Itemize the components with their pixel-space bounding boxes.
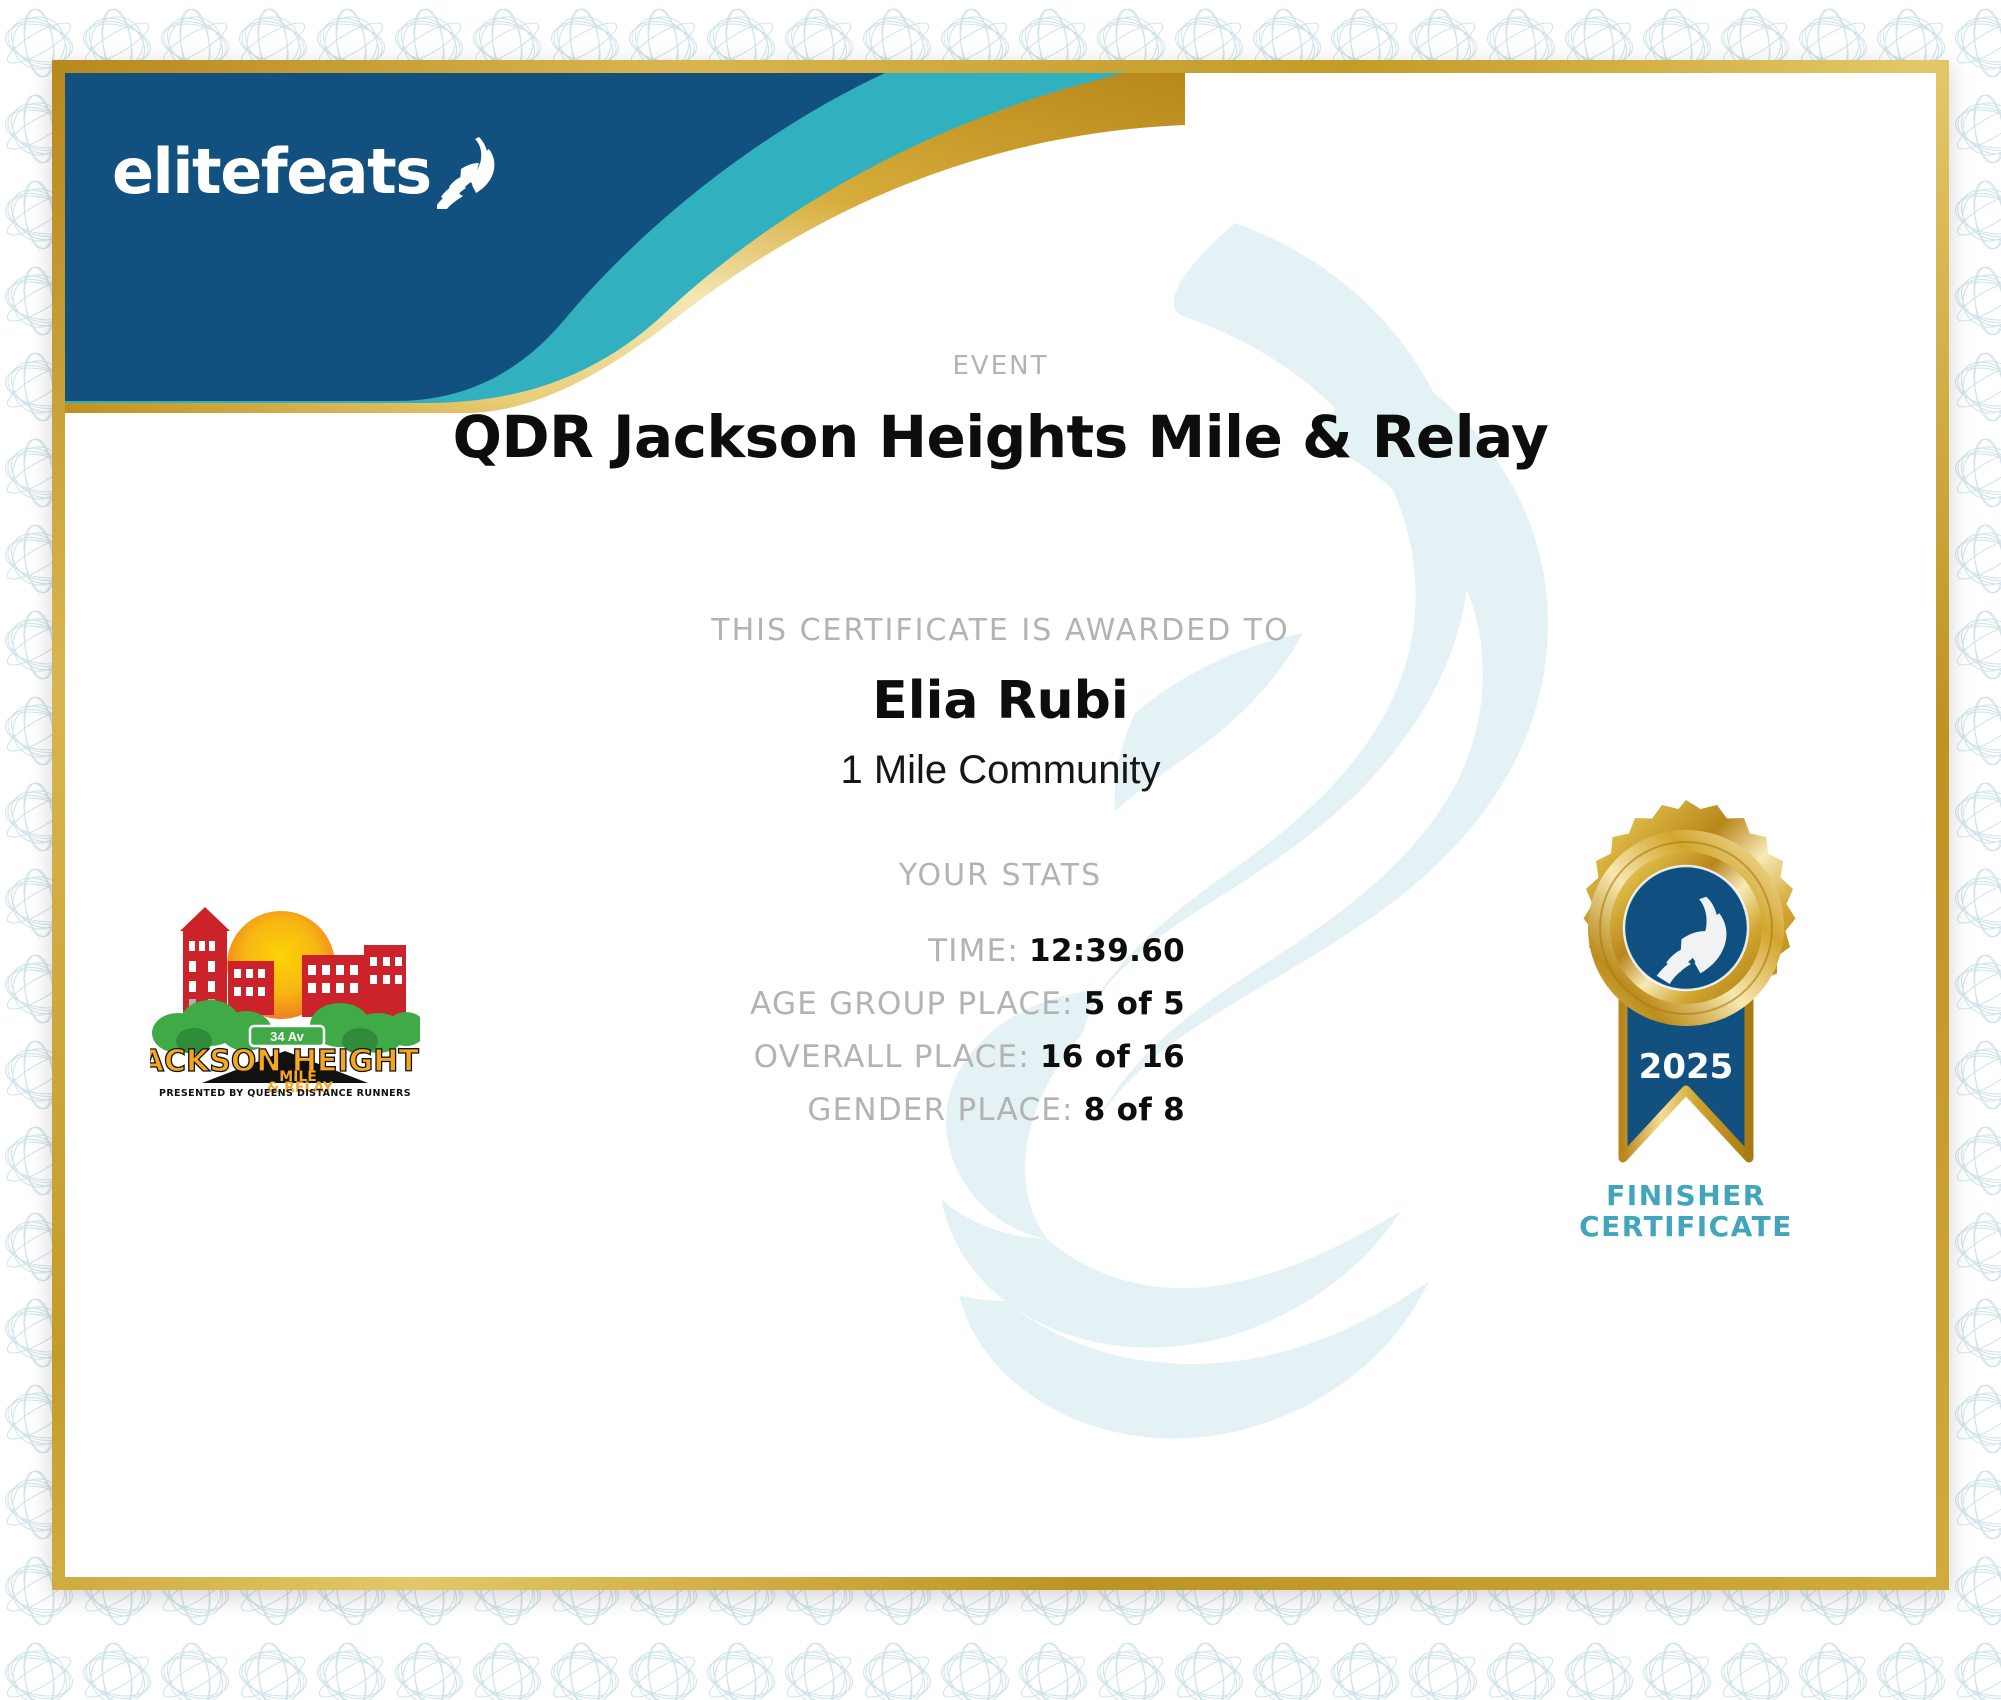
stat-key: TIME: (928, 933, 1019, 969)
badge-caption-line1: FINISHER (1541, 1180, 1831, 1211)
stat-value: 5 of 5 (1084, 986, 1185, 1022)
logo-presented-by: PRESENTED BY QUEENS DISTANCE RUNNERS (159, 1088, 411, 1098)
winged-foot-icon (435, 135, 499, 209)
gold-frame: elitefeats EVENT QDR Jackson Heights Mil… (52, 60, 1949, 1590)
finisher-badge: 2025 FINISHER CERTIFICATE (1541, 778, 1831, 1243)
brand-wordmark: elitefeats (112, 141, 431, 203)
jackson-heights-event-logo: 34 Av JACKSON HEIGHTS MILE & RELAY PRESE… (150, 883, 420, 1098)
event-label: EVENT (65, 351, 1936, 381)
badge-caption-line2: CERTIFICATE (1541, 1211, 1831, 1242)
street-sign-text: 34 Av (270, 1029, 304, 1044)
certificate-canvas: elitefeats EVENT QDR Jackson Heights Mil… (65, 73, 1936, 1577)
awarded-to-label: THIS CERTIFICATE IS AWARDED TO (65, 613, 1936, 648)
stat-value: 12:39.60 (1029, 933, 1185, 969)
certificate-content: EVENT QDR Jackson Heights Mile & Relay T… (65, 73, 1936, 1577)
event-title: QDR Jackson Heights Mile & Relay (65, 403, 1936, 471)
stat-key: OVERALL PLACE: (754, 1039, 1030, 1075)
finisher-medal-icon: 2025 (1561, 778, 1811, 1178)
recipient-name: Elia Rubi (65, 671, 1936, 731)
stat-value: 8 of 8 (1084, 1092, 1185, 1128)
stat-value: 16 of 16 (1040, 1039, 1185, 1075)
certificate-page: elitefeats EVENT QDR Jackson Heights Mil… (0, 0, 2001, 1700)
stat-key: AGE GROUP PLACE: (750, 986, 1074, 1022)
badge-caption: FINISHER CERTIFICATE (1541, 1180, 1831, 1243)
badge-year: 2025 (1639, 1047, 1734, 1087)
stat-key: GENDER PLACE: (807, 1092, 1073, 1128)
elitefeats-logo: elitefeats (112, 135, 499, 209)
